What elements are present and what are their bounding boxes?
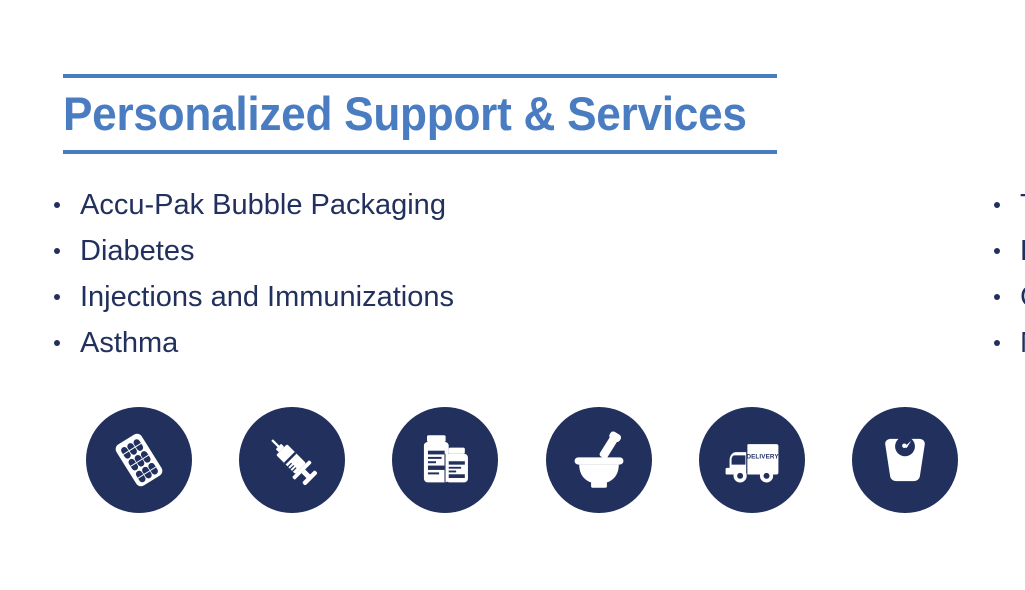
- list-item: Diabetes: [52, 228, 454, 274]
- icon-badge-mortar-pestle: [546, 407, 652, 513]
- service-label: Injections and Immunizations: [80, 281, 454, 313]
- header-rule-bottom: [63, 150, 777, 154]
- list-item: Travel Health: [992, 182, 1025, 228]
- services-list-right: Travel Health Free Prescription Delivery…: [992, 182, 1025, 366]
- header-block: Personalized Support & Services: [63, 74, 777, 154]
- slide-canvas: Personalized Support & Services Accu-Pak…: [0, 0, 1025, 590]
- list-item: Free Prescription Delivery: [992, 228, 1025, 274]
- bullet-dot-icon: [994, 202, 1000, 208]
- icon-badge-delivery-van: DELIVERY: [699, 407, 805, 513]
- services-list-left: Accu-Pak Bubble Packaging Diabetes Injec…: [52, 182, 454, 366]
- mortar-and-pestle-icon: [566, 427, 632, 493]
- service-label: Accu-Pak Bubble Packaging: [80, 189, 446, 221]
- list-item: Asthma: [52, 320, 454, 366]
- bullet-dot-icon: [994, 340, 1000, 346]
- icon-badge-syringe: [239, 407, 345, 513]
- bullet-dot-icon: [994, 294, 1000, 300]
- service-label: Asthma: [80, 327, 178, 359]
- blister-pack-icon: [108, 429, 170, 491]
- service-icon-row: DELIVERY: [86, 406, 958, 514]
- bullet-dot-icon: [994, 248, 1000, 254]
- list-item: Compounding: [992, 274, 1025, 320]
- list-item: Medication Reviews: [992, 320, 1025, 366]
- service-label: Diabetes: [80, 235, 194, 267]
- service-label: Travel Health: [1020, 189, 1025, 221]
- bullet-dot-icon: [54, 248, 60, 254]
- icon-badge-pill-bottles: [392, 407, 498, 513]
- service-label: Free Prescription Delivery: [1020, 235, 1025, 267]
- delivery-van-text: DELIVERY: [746, 454, 779, 461]
- delivery-van-icon: DELIVERY: [719, 427, 785, 493]
- icon-badge-weight-scale: [852, 407, 958, 513]
- header-rule-top: [63, 74, 777, 78]
- bullet-dot-icon: [54, 294, 60, 300]
- bullet-dot-icon: [54, 340, 60, 346]
- list-item: Accu-Pak Bubble Packaging: [52, 182, 454, 228]
- service-label: Compounding: [1020, 281, 1025, 313]
- bullet-dot-icon: [54, 202, 60, 208]
- services-column-left: Accu-Pak Bubble Packaging Diabetes Injec…: [0, 182, 454, 366]
- pill-bottle-short: [446, 448, 468, 483]
- icon-badge-blister-pack: [86, 407, 192, 513]
- services-column-right: Travel Health Free Prescription Delivery…: [992, 182, 1025, 366]
- service-label: Medication Reviews: [1020, 327, 1025, 359]
- page-title: Personalized Support & Services: [63, 84, 734, 146]
- weight-scale-icon: [874, 429, 936, 491]
- pill-bottles-icon: [414, 429, 476, 491]
- syringe-icon: [260, 428, 324, 492]
- services-columns: Accu-Pak Bubble Packaging Diabetes Injec…: [0, 182, 1025, 366]
- list-item: Injections and Immunizations: [52, 274, 454, 320]
